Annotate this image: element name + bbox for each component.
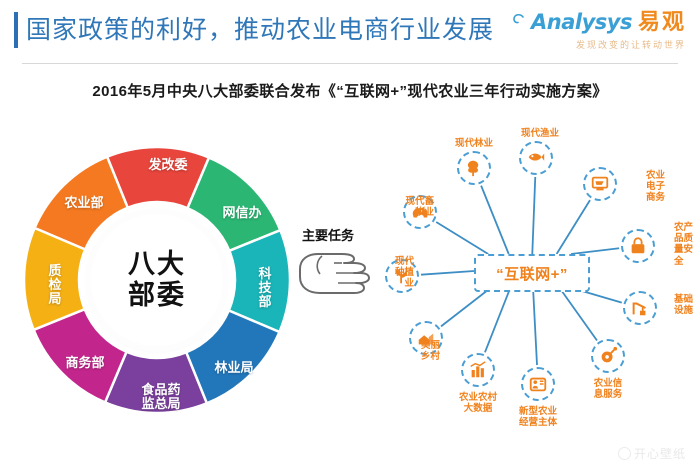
mindmap-node[interactable] xyxy=(521,367,555,401)
eight-ministries-donut: 八大 部委 发改委网信办科技部林业局食品药监总局商务部质检局农业部 xyxy=(22,125,292,435)
mindmap-node[interactable] xyxy=(519,141,553,175)
service-icon xyxy=(591,339,625,373)
person-icon xyxy=(521,367,555,401)
logo-tagline: 发现改变的让转动世界 xyxy=(512,38,686,51)
mindmap-node-label: 农业信 息服务 xyxy=(568,378,648,400)
mindmap-node-label: 现代渔业 xyxy=(500,128,580,139)
mindmap-node-label: 基础 设施 xyxy=(674,294,693,316)
internet-plus-mindmap: “互联网+” 现代林业现代渔业农业 电子 商务农产 品质 量安 全基础 设施农业… xyxy=(378,122,696,440)
mindmap-connector xyxy=(481,186,509,254)
mindmap-node[interactable] xyxy=(591,339,625,373)
lock-icon xyxy=(621,229,655,263)
mindmap-connector xyxy=(533,288,537,365)
logo-cn-text: 易观 xyxy=(638,4,686,36)
watermark-text: 开心壁纸 xyxy=(634,445,686,462)
fish-icon xyxy=(519,141,553,175)
mindmap-connector xyxy=(532,177,535,254)
subtitle: 2016年5月中央八大部委联合发布《“互联网+”现代农业三年行动实施方案》 xyxy=(0,80,700,101)
main-task-label: 主要任务 xyxy=(302,225,354,244)
page-header: 国家政策的利好，推动农业电商行业发展 Analysys 易观 发现改变的让转动世… xyxy=(0,0,700,62)
mindmap-node-label: 农产 品质 量安 全 xyxy=(674,222,693,267)
ecommerce-icon xyxy=(583,167,617,201)
mindmap-connector xyxy=(485,288,510,352)
chart-icon xyxy=(461,353,495,387)
mindmap-node[interactable] xyxy=(457,151,491,185)
mindmap-connector xyxy=(560,288,597,341)
mindmap-hub-label: “互联网+” xyxy=(496,263,568,284)
mindmap-connector xyxy=(557,200,590,254)
mindmap-node-label: 农业 电子 商务 xyxy=(646,170,665,204)
mindmap-connector xyxy=(421,271,474,275)
analysys-swirl-icon xyxy=(512,13,525,29)
mindmap-hub: “互联网+” xyxy=(474,254,590,292)
tree-icon xyxy=(457,151,491,185)
mindmap-node[interactable] xyxy=(461,353,495,387)
watermark: 开心壁纸 xyxy=(618,445,686,462)
mindmap-node-label: 现代林业 xyxy=(434,138,514,149)
mindmap-node[interactable] xyxy=(583,167,617,201)
header-divider xyxy=(22,63,678,64)
mindmap-connector xyxy=(441,288,490,326)
title-accent-bar xyxy=(14,12,18,48)
mindmap-node-label: 农业农村 大数据 xyxy=(438,392,518,414)
mindmap-node-label: 美丽 乡村 xyxy=(394,340,440,362)
donut-center-line1: 八大 xyxy=(128,249,186,280)
watermark-dot-icon xyxy=(618,447,631,460)
donut-center-line2: 部委 xyxy=(128,280,186,311)
mindmap-connector xyxy=(436,222,488,254)
slide-canvas: 国家政策的利好，推动农业电商行业发展 Analysys 易观 发现改变的让转动世… xyxy=(0,0,700,470)
mindmap-node-label: 现代 种植 业 xyxy=(368,256,414,290)
infrastructure-icon xyxy=(623,291,657,325)
logo-mark-text: Analysys xyxy=(531,10,632,34)
brand-logo: Analysys 易观 发现改变的让转动世界 xyxy=(512,4,686,51)
donut-center-label: 八大 部委 xyxy=(91,214,223,346)
mindmap-node[interactable] xyxy=(621,229,655,263)
page-title: 国家政策的利好，推动农业电商行业发展 xyxy=(26,12,494,48)
mindmap-node-label: 现代畜 牧业 xyxy=(388,196,434,218)
mindmap-node[interactable] xyxy=(623,291,657,325)
